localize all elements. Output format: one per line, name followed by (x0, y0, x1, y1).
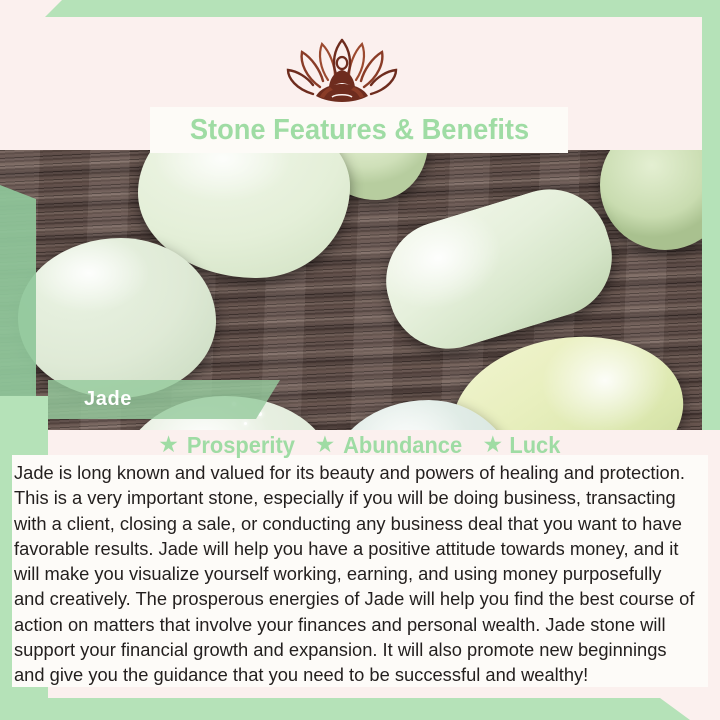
benefit-label: Luck (509, 432, 560, 459)
description-text: Jade is long known and valued for its be… (14, 460, 696, 688)
decorative-band-right (702, 0, 720, 430)
benefits-row: ★ Prosperity ★ Abundance ★ Luck (0, 432, 720, 459)
decorative-band-top (0, 0, 720, 17)
star-icon: ★ (482, 433, 503, 456)
decorative-band-bottom (0, 698, 720, 720)
page-title: Stone Features & Benefits (189, 114, 528, 147)
benefit-label: Prosperity (187, 432, 295, 459)
star-icon: ★ (158, 433, 179, 456)
benefit-label: Abundance (343, 432, 462, 459)
benefit-item-abundance: ★ Abundance (315, 432, 466, 459)
lotus-meditation-figure-icon (280, 37, 404, 105)
stone-name-label: Jade (84, 388, 132, 411)
benefit-item-luck: ★ Luck (482, 432, 561, 459)
infographic-card: BUDDHA STONES Stone Features & Benefits … (0, 0, 720, 720)
benefit-item-prosperity: ★ Prosperity (158, 432, 297, 459)
star-icon: ★ (315, 433, 336, 456)
sparkle-highlight (244, 422, 247, 425)
stone-name-band: Jade (48, 380, 280, 419)
stone-1 (18, 238, 216, 398)
title-banner: Stone Features & Benefits (150, 107, 568, 153)
description-section: Jade is long known and valued for its be… (14, 460, 706, 688)
decorative-band-left (0, 185, 36, 410)
